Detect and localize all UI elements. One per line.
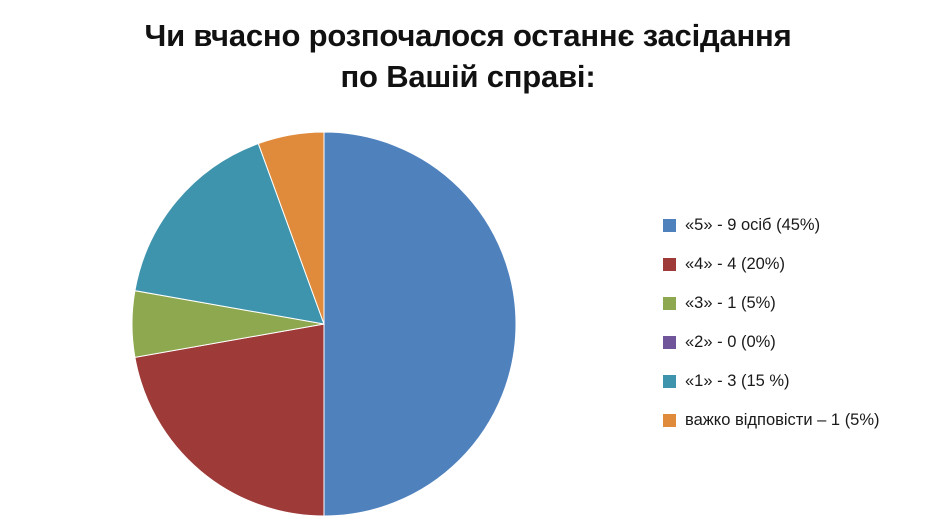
pie-slice[interactable] xyxy=(324,132,516,516)
plot-area xyxy=(120,125,530,525)
pie-slices xyxy=(132,132,516,516)
pie-svg xyxy=(120,125,530,525)
legend-swatch-icon xyxy=(663,336,676,349)
pie-chart: Чи вчасно розпочалося останнє засідання … xyxy=(0,0,936,525)
legend-item[interactable]: «1» - 3 (15 %) xyxy=(663,362,929,401)
legend-item-label: «2» - 0 (0%) xyxy=(685,334,776,351)
legend-item[interactable]: «5» - 9 осіб (45%) xyxy=(663,206,929,245)
legend-item[interactable]: «2» - 0 (0%) xyxy=(663,323,929,362)
legend-swatch-icon xyxy=(663,375,676,388)
legend-item-label: «4» - 4 (20%) xyxy=(685,256,785,273)
legend-item[interactable]: «4» - 4 (20%) xyxy=(663,245,929,284)
legend-swatch-icon xyxy=(663,258,676,271)
chart-legend: «5» - 9 осіб (45%)«4» - 4 (20%)«3» - 1 (… xyxy=(663,206,929,440)
legend-item[interactable]: важко відповісти – 1 (5%) xyxy=(663,401,929,440)
legend-swatch-icon xyxy=(663,414,676,427)
legend-item-label: «5» - 9 осіб (45%) xyxy=(685,217,820,234)
chart-title: Чи вчасно розпочалося останнє засідання … xyxy=(40,16,896,98)
legend-swatch-icon xyxy=(663,219,676,232)
legend-item[interactable]: «3» - 1 (5%) xyxy=(663,284,929,323)
legend-item-label: «1» - 3 (15 %) xyxy=(685,373,790,390)
legend-item-label: «3» - 1 (5%) xyxy=(685,295,776,312)
legend-swatch-icon xyxy=(663,297,676,310)
legend-item-label: важко відповісти – 1 (5%) xyxy=(685,412,880,429)
